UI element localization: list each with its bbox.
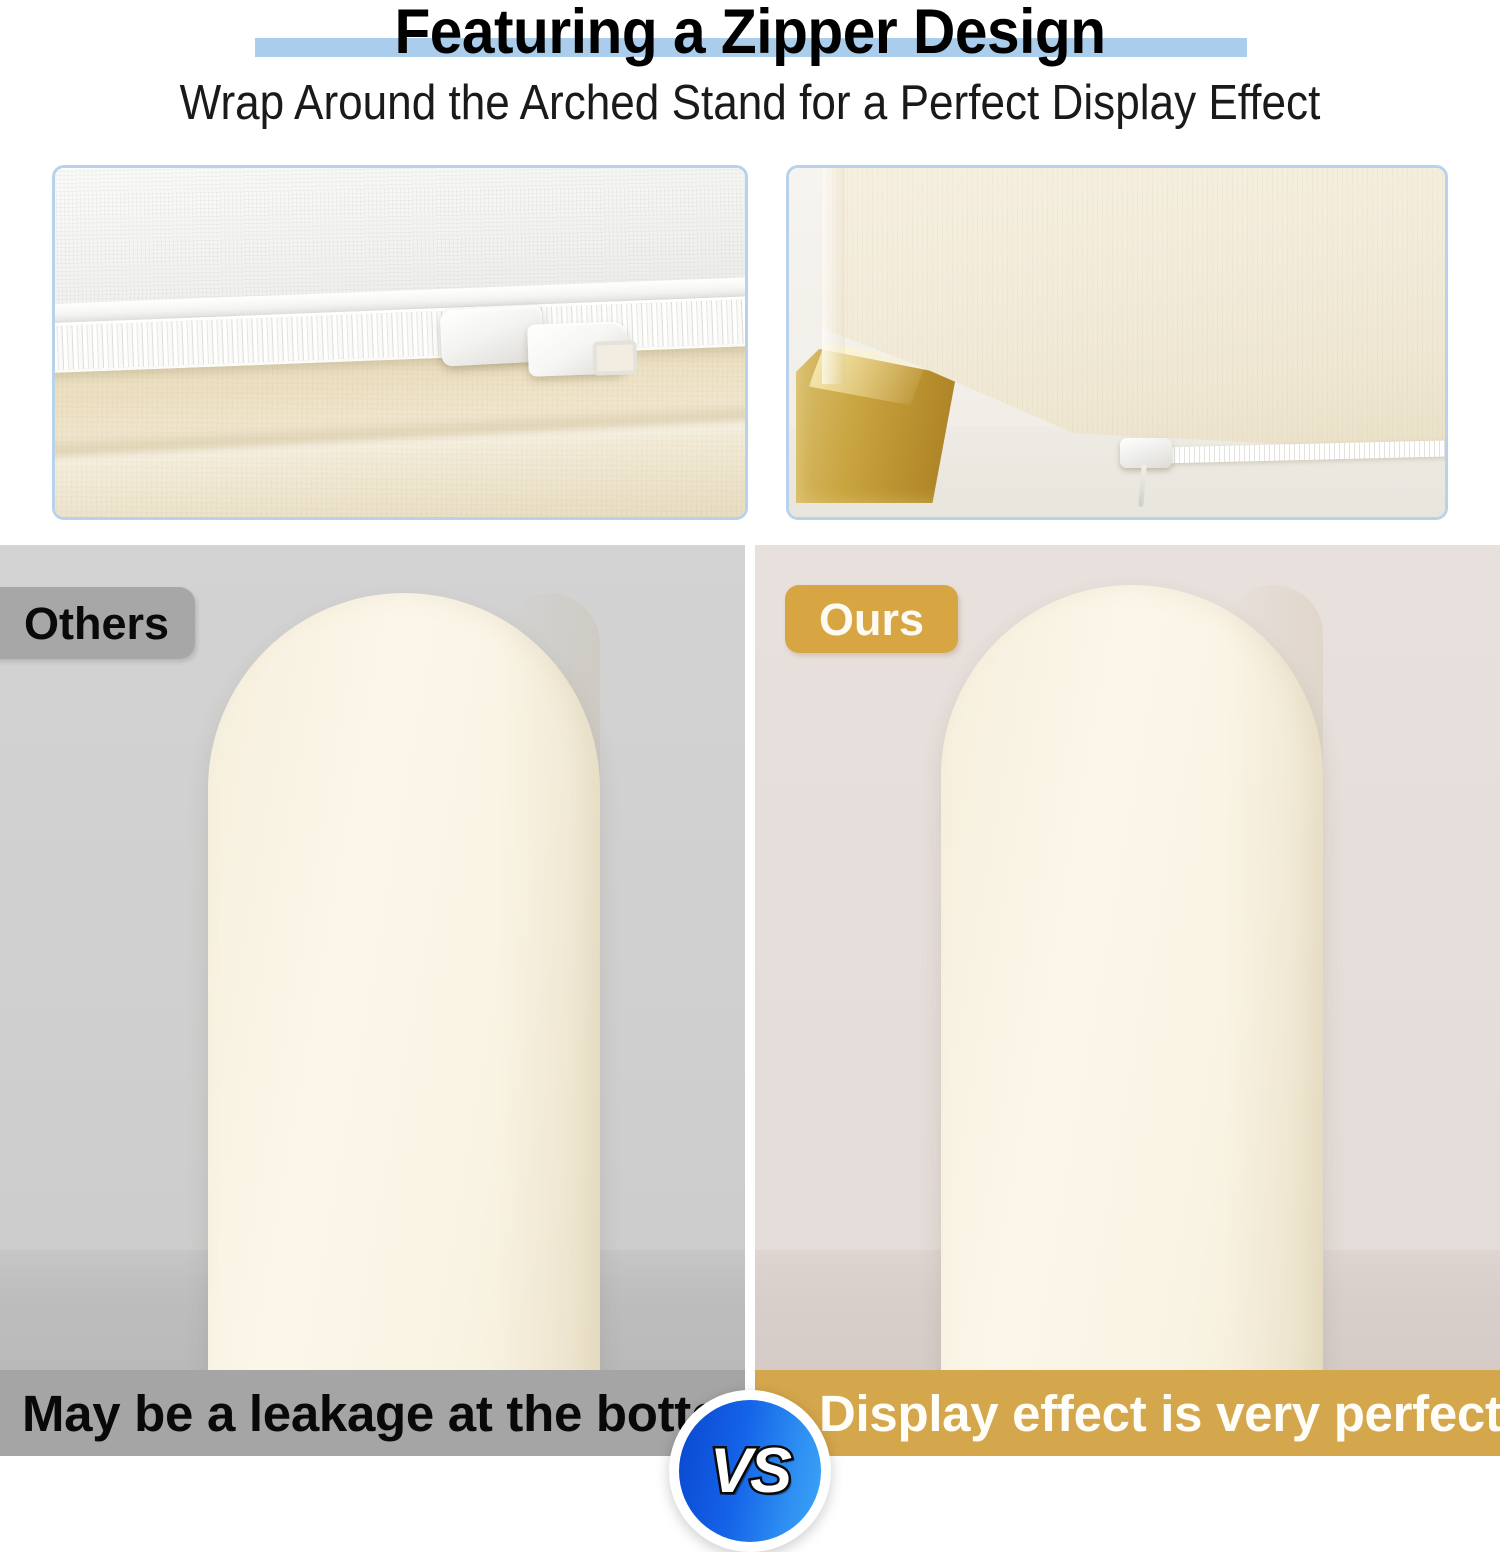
frame-photo-content — [789, 168, 1445, 517]
page-title: Featuring a Zipper Design — [53, 0, 1448, 70]
vs-label: VS — [710, 1440, 790, 1503]
others-arch-cover — [208, 593, 600, 1456]
others-caption: May be a leakage at the bottom — [0, 1370, 745, 1456]
header: Featuring a Zipper Design Wrap Around th… — [0, 0, 1500, 148]
bottom-zipper-slider-icon — [1120, 438, 1172, 468]
comparison-section: Others Ours VS May be a leakage at — [0, 545, 1500, 1456]
panel-divider — [745, 545, 755, 1456]
page-subtitle: Wrap Around the Arched Stand for a Perfe… — [75, 72, 1425, 134]
vs-badge-circle: VS — [679, 1400, 821, 1542]
badge-ours: Ours — [785, 585, 958, 653]
vs-badge: VS — [669, 1390, 831, 1552]
zipper-closeup-photo — [52, 165, 748, 520]
zipper-pull-hole — [593, 340, 638, 376]
photo-row — [0, 148, 1500, 540]
ours-caption: Display effect is very perfect — [755, 1370, 1500, 1456]
ours-arch-cover — [941, 585, 1323, 1456]
ours-panel: Ours — [755, 545, 1500, 1456]
badge-others: Others — [0, 587, 195, 659]
others-arch-shading — [498, 593, 600, 1456]
title-block: Featuring a Zipper Design — [0, 0, 1500, 70]
zipper-photo-content — [55, 168, 745, 517]
others-panel: Others — [0, 545, 745, 1456]
ours-arch-shading — [1224, 585, 1323, 1456]
cover-edge-highlight — [822, 168, 845, 384]
frame-corner-photo — [786, 165, 1448, 520]
